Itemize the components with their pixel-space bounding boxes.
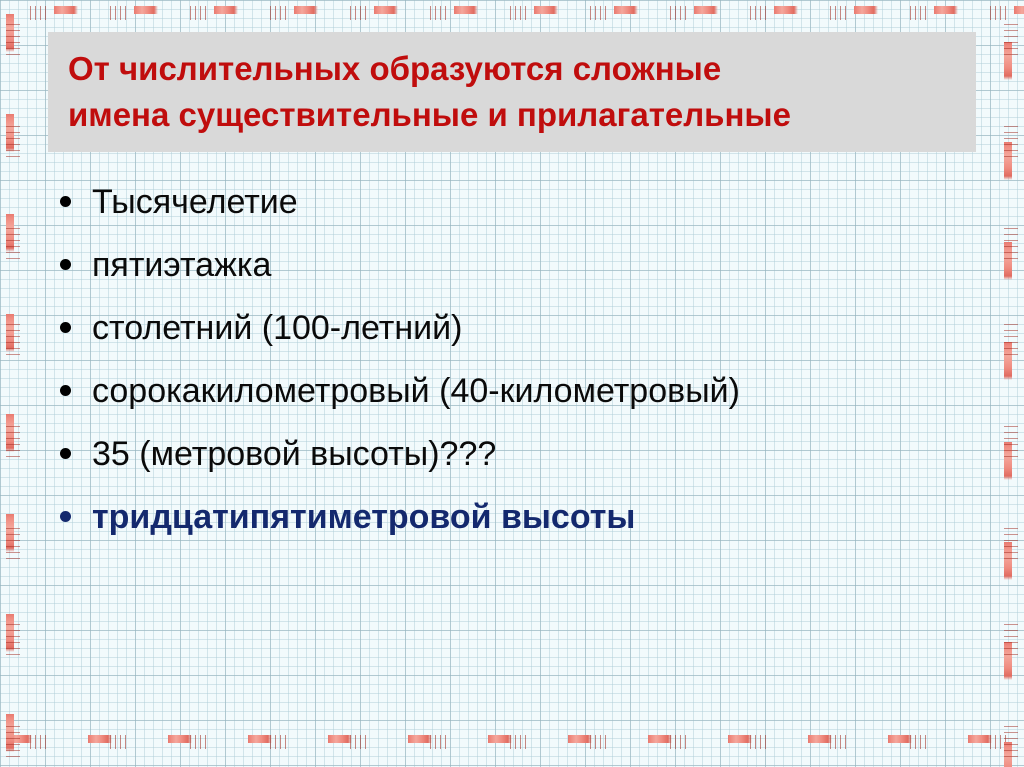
list-item-label: сорокакилометровый (40-километровый) [92,371,740,411]
slide-canvas: От числительных образуются сложные имена… [0,0,1024,767]
round-bullet-icon [60,437,92,467]
bullet-list: Тысячелетие пятиэтажка столетний (100-ле… [60,182,1010,560]
round-bullet-icon [60,374,92,404]
title-panel: От числительных образуются сложные имена… [48,32,976,152]
list-item: столетний (100-летний) [60,308,1010,371]
list-item-label: столетний (100-летний) [92,308,462,348]
round-bullet-icon [60,500,92,530]
list-item: сорокакилометровый (40-километровый) [60,371,1010,434]
list-item-label: тридцатипятиметровой высоты [92,497,635,537]
decorative-top-border-stitches [0,6,1024,20]
list-item-label: 35 (метровой высоты)??? [92,434,496,474]
list-item: пятиэтажка [60,245,1010,308]
list-item: Тысячелетие [60,182,1010,245]
round-bullet-icon [60,185,92,215]
slide-title: От числительных образуются сложные имена… [68,46,956,138]
decorative-left-border-stitches [6,0,20,767]
list-item-highlighted: тридцатипятиметровой высоты [60,497,1010,560]
list-item-label: пятиэтажка [92,245,271,285]
list-item-label: Тысячелетие [92,182,298,222]
round-bullet-icon [60,311,92,341]
list-item: 35 (метровой высоты)??? [60,434,1010,497]
round-bullet-icon [60,248,92,278]
decorative-bottom-border-stitches [0,735,1024,749]
